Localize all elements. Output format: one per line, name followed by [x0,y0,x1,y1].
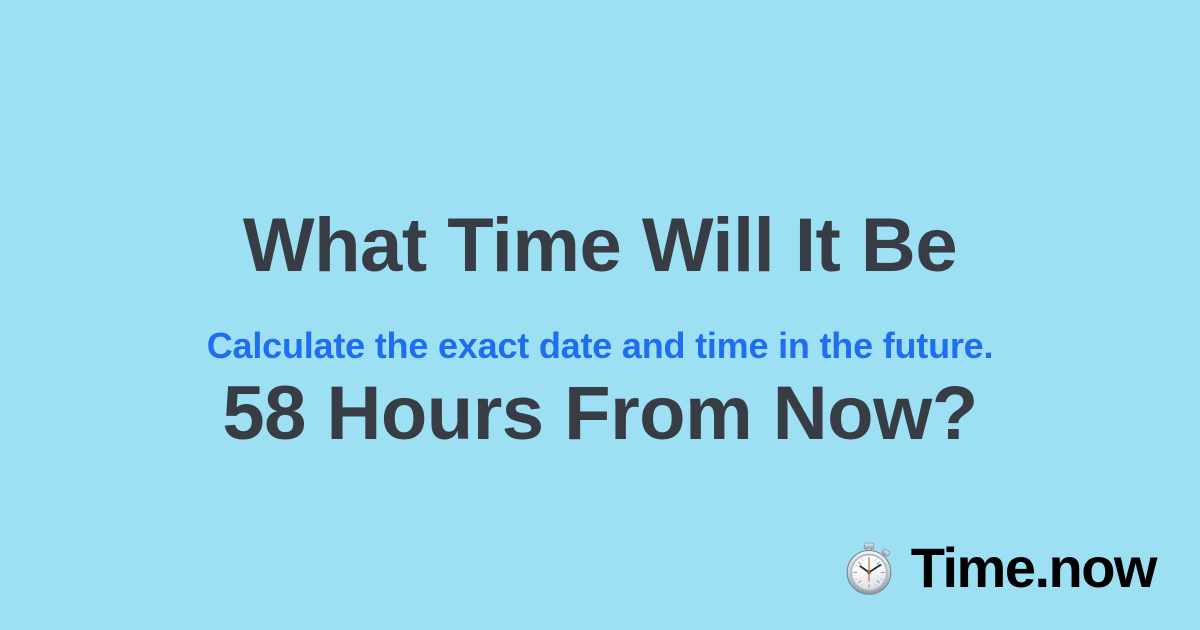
brand-name: Time.now [911,540,1156,596]
brand-logo: Time.now [841,532,1156,604]
headline-line-1: What Time Will It Be [0,204,1200,288]
subtitle: Calculate the exact date and time in the… [0,324,1200,368]
headline-line-2: 58 Hours From Now? [0,372,1200,456]
stopwatch-icon [841,540,897,596]
og-card: What Time Will It Be 58 Hours From Now? … [0,0,1200,630]
